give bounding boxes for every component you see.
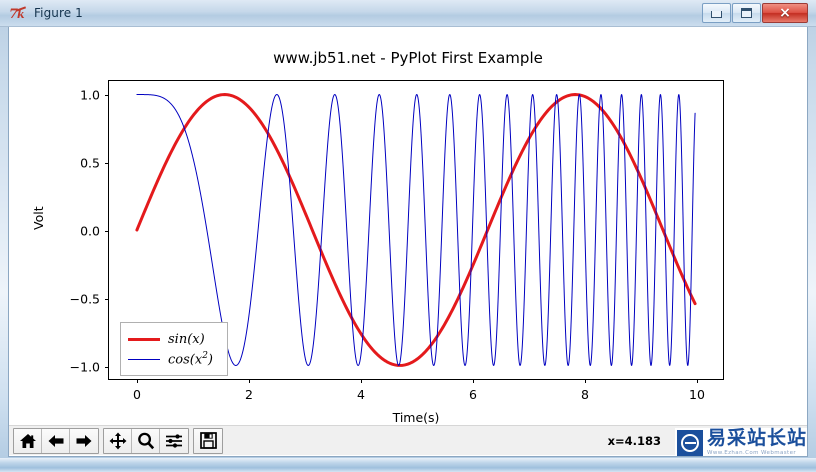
y-tick-mark	[105, 95, 109, 96]
x-tick-label: 6	[469, 387, 477, 402]
x-tick-label: 0	[133, 387, 141, 402]
legend-swatch-cos	[128, 359, 160, 360]
figure-canvas[interactable]: www.jb51.net - PyPlot First Example Volt…	[9, 27, 807, 425]
x-tick-label: 2	[245, 387, 253, 402]
x-tick-label: 4	[357, 387, 365, 402]
x-tick-mark	[473, 379, 474, 383]
home-icon	[19, 433, 37, 449]
back-button[interactable]	[42, 429, 70, 453]
chart-legend[interactable]: sin(x) cos(x2)	[120, 322, 228, 376]
minimize-button[interactable]	[702, 3, 731, 23]
figure-window: 7 k Figure 1 × www.jb51.net - PyPlot Fir…	[0, 0, 816, 472]
window-title: Figure 1	[34, 6, 83, 20]
x-tick-mark	[697, 379, 698, 383]
plot-axes[interactable]: 1.00.50.0−0.5−1.00246810 sin(x) cos(x2)	[108, 80, 724, 380]
back-arrow-icon	[47, 433, 65, 449]
coordinate-status: x=4.183	[608, 434, 661, 448]
toolbar-group-nav	[13, 428, 99, 454]
save-floppy-icon	[200, 432, 217, 449]
x-tick-mark	[585, 379, 586, 383]
toolbar-group-save	[193, 428, 223, 454]
toolbar-group-tools	[103, 428, 189, 454]
x-axis-label: Time(s)	[108, 410, 724, 425]
watermark-subtitle: Www.Ezhan.Com Webmaster	[707, 451, 807, 457]
close-icon: ×	[779, 6, 791, 20]
legend-swatch-sin	[128, 338, 160, 341]
maximize-button[interactable]	[732, 3, 761, 23]
chart-title: www.jb51.net - PyPlot First Example	[9, 49, 807, 67]
close-button[interactable]: ×	[762, 3, 808, 23]
y-tick-label: 0.5	[80, 155, 100, 170]
x-tick-mark	[361, 379, 362, 383]
maximize-icon	[741, 8, 752, 18]
y-axis-label: Volt	[31, 206, 46, 230]
y-tick-mark	[105, 299, 109, 300]
zoom-magnifier-icon	[137, 432, 155, 450]
y-tick-mark	[105, 163, 109, 164]
minimize-icon	[711, 11, 722, 18]
x-tick-mark	[137, 379, 138, 383]
x-tick-label: 8	[581, 387, 589, 402]
y-tick-label: 1.0	[80, 87, 100, 102]
home-button[interactable]	[14, 429, 42, 453]
window-bottom-strip	[0, 458, 816, 472]
forward-arrow-icon	[75, 433, 93, 449]
legend-label-cos: cos(x2)	[168, 351, 213, 367]
logo-ring	[681, 434, 699, 452]
legend-item-cos: cos(x2)	[128, 350, 219, 369]
configure-subplots-icon	[165, 433, 183, 449]
forward-button[interactable]	[70, 429, 98, 453]
legend-item-sin: sin(x)	[128, 330, 219, 349]
window-client-area: www.jb51.net - PyPlot First Example Volt…	[8, 27, 808, 457]
y-tick-mark	[105, 367, 109, 368]
window-controls: ×	[701, 2, 808, 23]
ezhan-logo-icon	[677, 430, 703, 456]
y-tick-label: 0.0	[80, 224, 100, 239]
configure-subplots-button[interactable]	[160, 429, 188, 453]
y-tick-label: −1.0	[70, 360, 100, 375]
pan-button[interactable]	[104, 429, 132, 453]
window-titlebar[interactable]: 7 k Figure 1 ×	[0, 0, 816, 27]
y-tick-label: −0.5	[70, 292, 100, 307]
x-tick-mark	[249, 379, 250, 383]
x-tick-label: 10	[689, 387, 705, 402]
legend-label-sin: sin(x)	[168, 332, 205, 347]
zoom-button[interactable]	[132, 429, 160, 453]
save-button[interactable]	[194, 429, 222, 453]
pan-move-icon	[109, 432, 127, 450]
site-watermark: 易采站长站 Www.Ezhan.Com Webmaster	[675, 428, 807, 457]
watermark-title: 易采站长站	[707, 429, 807, 448]
matplotlib-icon: 7 k	[8, 4, 30, 22]
y-tick-mark	[105, 231, 109, 232]
watermark-text: 易采站长站 Www.Ezhan.Com Webmaster	[707, 429, 807, 457]
